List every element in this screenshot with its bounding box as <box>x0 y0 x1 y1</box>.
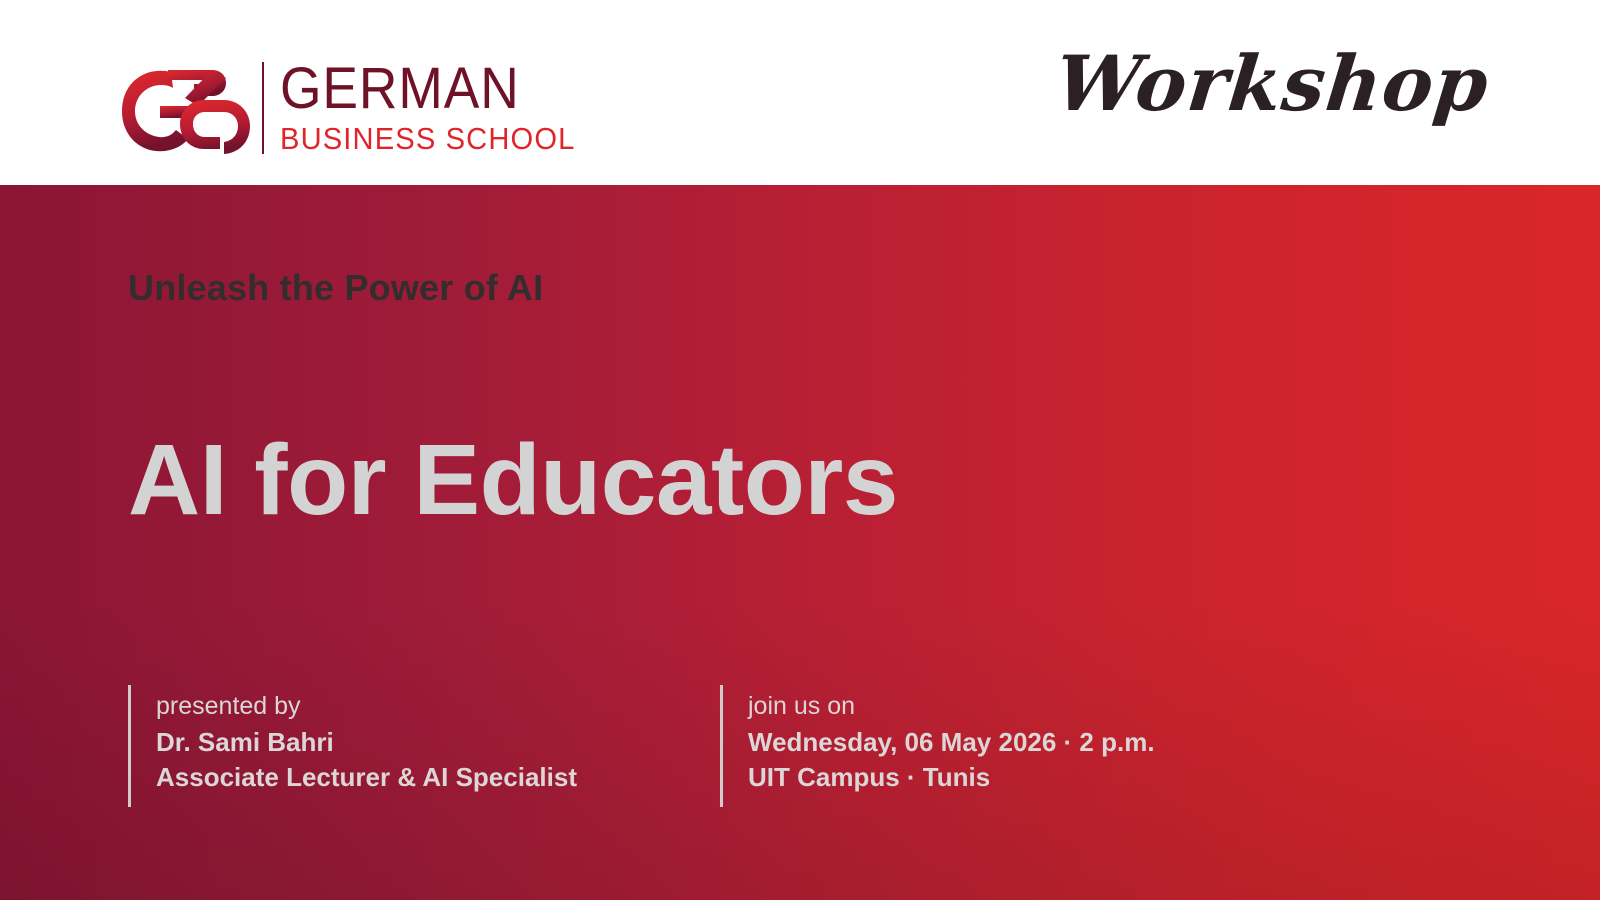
logo-divider-rule <box>262 62 264 154</box>
presenter-title: Associate Lecturer & AI Specialist <box>156 760 577 795</box>
poster-body: Unleash the Power of AI AI for Educators… <box>0 185 1600 900</box>
brand-wordmark: GERMAN BUSINESS SCHOOL <box>280 58 594 158</box>
poster-headline: AI for Educators <box>128 430 898 530</box>
header-band: GERMAN BUSINESS SCHOOL Workshop <box>0 0 1600 185</box>
workshop-badge-label: Workshop <box>1052 46 1492 122</box>
brand-logo-lockup: GERMAN BUSINESS SCHOOL <box>108 52 594 164</box>
event-location: UIT Campus · Tunis <box>748 760 1155 795</box>
event-label: join us on <box>748 689 1155 725</box>
presenter-block: presented by Dr. Sami Bahri Associate Le… <box>128 685 720 807</box>
event-block: join us on Wednesday, 06 May 2026 · 2 p.… <box>720 685 1155 807</box>
poster-eyebrow: Unleash the Power of AI <box>128 267 543 309</box>
poster-footer-info: presented by Dr. Sami Bahri Associate Le… <box>128 685 1155 807</box>
presenter-name: Dr. Sami Bahri <box>156 725 577 760</box>
wordmark-line-business-school: BUSINESS SCHOOL <box>280 123 575 154</box>
gbs-monogram-icon <box>108 54 256 162</box>
event-divider-rule <box>720 685 723 807</box>
presenter-divider-rule <box>128 685 131 807</box>
wordmark-line-german: GERMAN <box>280 62 569 117</box>
event-datetime: Wednesday, 06 May 2026 · 2 p.m. <box>748 725 1155 760</box>
workshop-poster: GERMAN BUSINESS SCHOOL Workshop Unleash … <box>0 0 1600 900</box>
presenter-label: presented by <box>156 689 577 725</box>
